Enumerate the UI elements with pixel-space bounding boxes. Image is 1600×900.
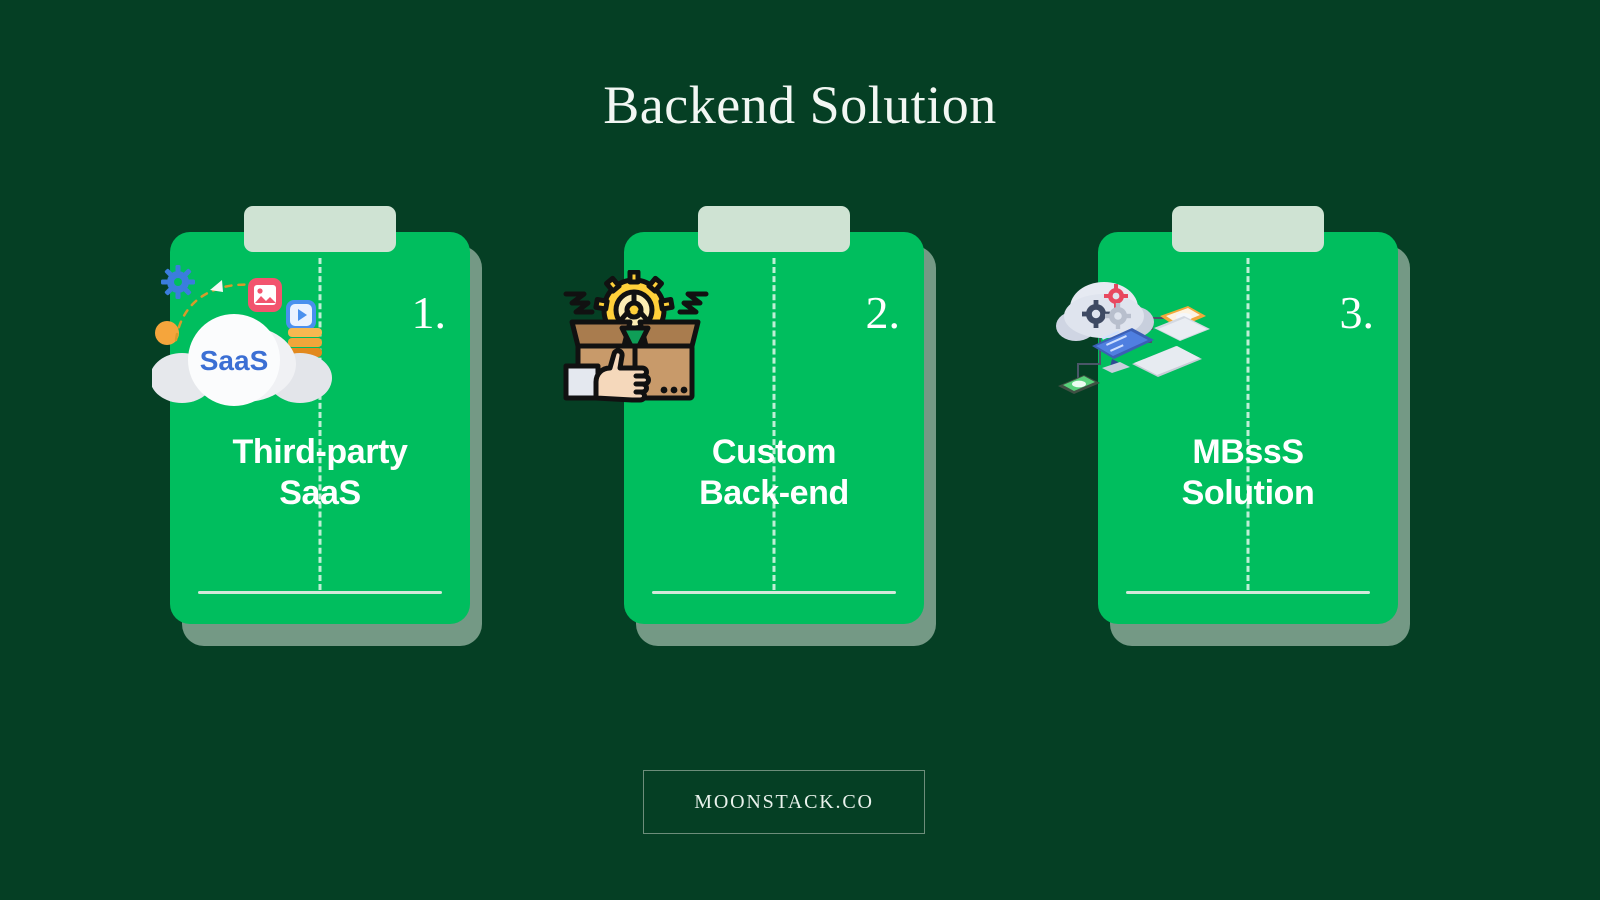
card-bottom-rule	[1126, 591, 1370, 594]
card-top-tab	[244, 206, 396, 252]
card-title-line-2: Solution	[1182, 474, 1315, 512]
page-title: Backend Solution	[0, 74, 1600, 136]
card-3[interactable]: 3. MBssS Solution	[1098, 232, 1398, 632]
card-body[interactable]: 1. Third-party SaaS	[170, 232, 470, 624]
card-center-dashed-line	[319, 258, 322, 590]
card-1[interactable]: 1. Third-party SaaS	[170, 232, 470, 632]
card-title-line-1: MBssS	[1192, 433, 1303, 471]
card-2[interactable]: 2. Custom Back-end	[624, 232, 924, 632]
card-top-tab	[698, 206, 850, 252]
card-title-line-2: SaaS	[279, 474, 361, 512]
card-center-dashed-line	[1247, 258, 1250, 590]
card-title: Third-party SaaS	[180, 432, 460, 515]
card-number: 3.	[1340, 290, 1375, 336]
card-body[interactable]: 2. Custom Back-end	[624, 232, 924, 624]
phone-icon	[1058, 375, 1100, 394]
card-title-line-1: Custom	[712, 433, 836, 471]
card-bottom-rule	[652, 591, 896, 594]
footer-brand-box[interactable]: MOONSTACK.CO	[643, 770, 925, 834]
brand-label: MOONSTACK.CO	[694, 791, 873, 814]
card-title-line-2: Back-end	[699, 474, 849, 512]
slide-canvas: Backend Solution 1. Third-party SaaS	[0, 0, 1600, 900]
card-top-tab	[1172, 206, 1324, 252]
card-bottom-rule	[198, 591, 442, 594]
cards-row: 1. Third-party SaaS	[0, 232, 1600, 662]
card-number: 2.	[866, 290, 901, 336]
card-number: 1.	[412, 290, 447, 336]
card-title-line-1: Third-party	[232, 433, 407, 471]
card-title: MBssS Solution	[1108, 432, 1388, 515]
card-title: Custom Back-end	[634, 432, 914, 515]
card-body[interactable]: 3. MBssS Solution	[1098, 232, 1398, 624]
card-center-dashed-line	[773, 258, 776, 590]
